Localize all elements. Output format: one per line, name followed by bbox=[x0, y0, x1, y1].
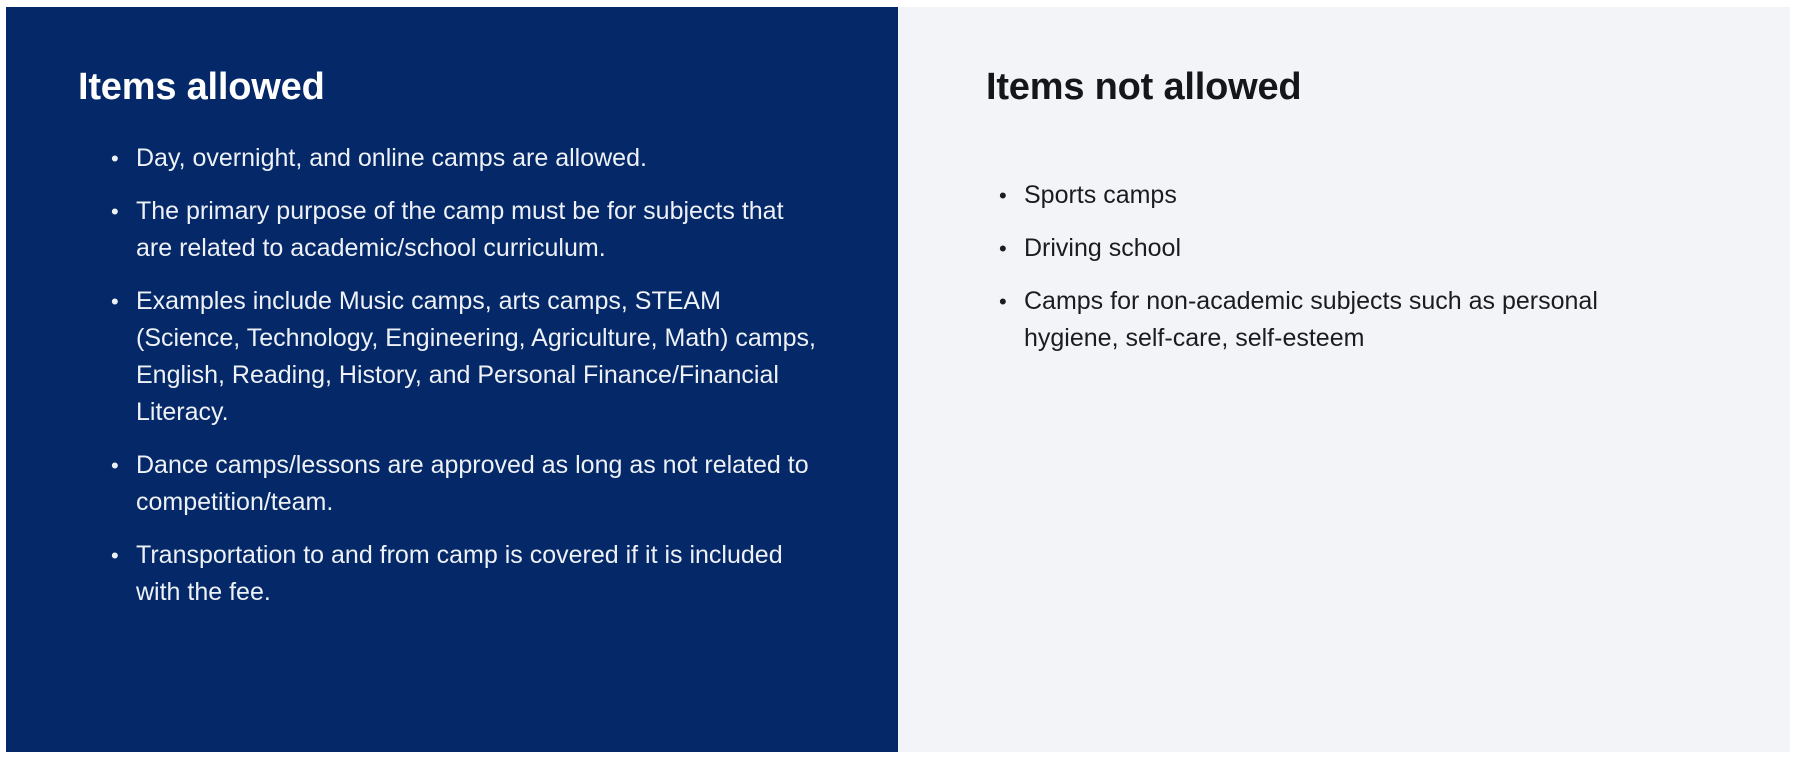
panel-title-items-not-allowed: Items not allowed bbox=[986, 67, 1301, 109]
panel-items-not-allowed: Items not allowed • Sports camps • Drivi… bbox=[898, 7, 1790, 752]
bullet-dot-icon: • bbox=[999, 177, 1007, 214]
bullet-dot-icon: • bbox=[999, 283, 1007, 320]
list-item-text: Sports camps bbox=[1024, 177, 1694, 214]
list-item: • Dance camps/lessons are approved as lo… bbox=[106, 447, 826, 521]
list-item: • Examples include Music camps, arts cam… bbox=[106, 283, 826, 431]
bullet-dot-icon: • bbox=[111, 193, 119, 230]
bullet-dot-icon: • bbox=[111, 447, 119, 484]
bullet-list-items-not-allowed: • Sports camps • Driving school • Camps … bbox=[994, 177, 1694, 373]
slide-canvas: Items allowed • Day, overnight, and onli… bbox=[0, 0, 1802, 760]
list-item-text: The primary purpose of the camp must be … bbox=[136, 193, 826, 267]
bullet-dot-icon: • bbox=[111, 140, 119, 177]
list-item-text: Transportation to and from camp is cover… bbox=[136, 537, 826, 611]
bullet-list-items-allowed: • Day, overnight, and online camps are a… bbox=[106, 140, 826, 627]
list-item-text: Driving school bbox=[1024, 230, 1694, 267]
list-item: • Sports camps bbox=[994, 177, 1694, 214]
list-item-text: Dance camps/lessons are approved as long… bbox=[136, 447, 826, 521]
panel-items-allowed: Items allowed • Day, overnight, and onli… bbox=[6, 7, 898, 752]
list-item-text: Examples include Music camps, arts camps… bbox=[136, 283, 826, 431]
bullet-dot-icon: • bbox=[111, 283, 119, 320]
list-item: • Transportation to and from camp is cov… bbox=[106, 537, 826, 611]
list-item: • The primary purpose of the camp must b… bbox=[106, 193, 826, 267]
list-item-text: Day, overnight, and online camps are all… bbox=[136, 140, 826, 177]
bullet-dot-icon: • bbox=[111, 537, 119, 574]
panel-title-items-allowed: Items allowed bbox=[78, 67, 325, 109]
list-item: • Camps for non-academic subjects such a… bbox=[994, 283, 1694, 357]
list-item: • Driving school bbox=[994, 230, 1694, 267]
list-item-text: Camps for non-academic subjects such as … bbox=[1024, 283, 1694, 357]
bullet-dot-icon: • bbox=[999, 230, 1007, 267]
list-item: • Day, overnight, and online camps are a… bbox=[106, 140, 826, 177]
